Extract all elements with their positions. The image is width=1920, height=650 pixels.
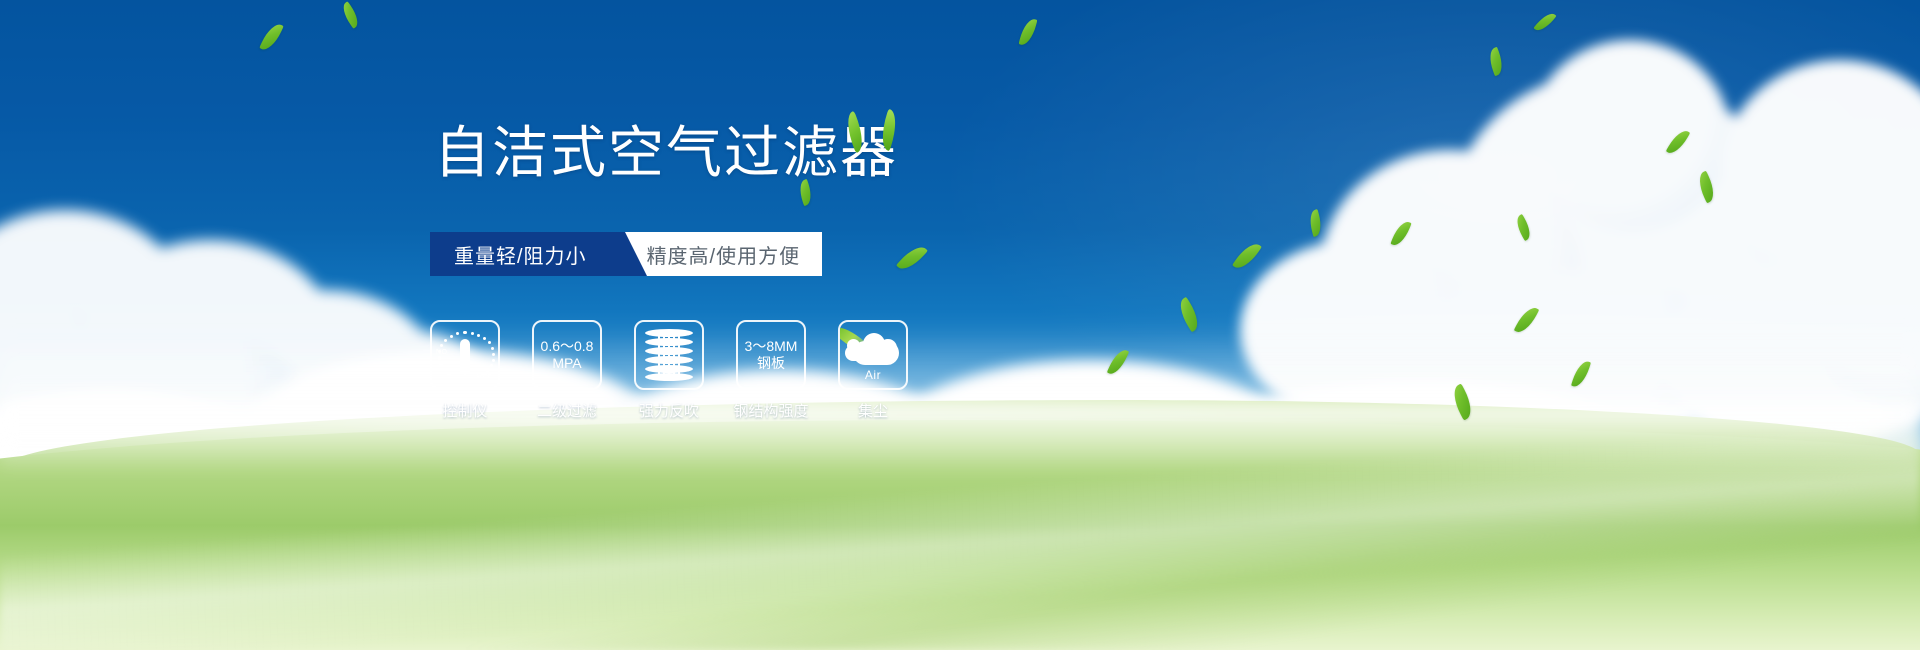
feature-icon-box: Air	[838, 320, 908, 390]
feature-label: 二级过滤	[537, 400, 597, 421]
pressure-value-line1: 0.6～0.8	[541, 338, 594, 356]
steel-value-line1: 3～8MM	[745, 338, 798, 356]
banner-content: 自洁式空气过滤器 重量轻/阻力小 精度高/使用方便	[0, 0, 1920, 650]
steel-value-line2: 钢板	[757, 355, 785, 373]
air-label: Air	[845, 368, 901, 382]
feature-label: 控制仪	[442, 400, 487, 421]
feature-label: 集尘	[858, 400, 888, 421]
tagline-bar: 重量轻/阻力小 精度高/使用方便	[430, 232, 822, 276]
feature-icon-box: NO OFF	[430, 320, 500, 390]
feature-icon-box: 3～8MM 钢板	[736, 320, 806, 390]
feature-item-two-stage-filter[interactable]: 0.6～0.8 MPA 二级过滤	[532, 320, 602, 421]
feature-icon-box	[634, 320, 704, 390]
air-cloud-icon: Air	[845, 331, 901, 379]
page-title: 自洁式空气过滤器	[434, 125, 898, 181]
feature-item-steel-strength[interactable]: 3～8MM 钢板 钢结构强度	[736, 320, 806, 421]
product-hero-banner: 自洁式空气过滤器 重量轻/阻力小 精度高/使用方便	[0, 0, 1920, 650]
pressure-value-line2: MPA	[552, 355, 581, 373]
feature-item-back-blow[interactable]: 强力反吹	[634, 320, 704, 421]
gauge-label-off: OFF	[477, 372, 493, 379]
feature-icon-list: NO OFF 控制仪 0.6～0.8 MPA 二级过滤	[430, 320, 908, 421]
sprout-leaves-icon	[842, 108, 912, 154]
gauge-label-no: NO	[436, 349, 448, 356]
gauge-dial-icon: NO OFF	[437, 327, 493, 383]
tagline-primary: 重量轻/阻力小	[430, 232, 625, 276]
feature-item-dust-collection[interactable]: Air 集尘	[838, 320, 908, 421]
feature-item-controller[interactable]: NO OFF 控制仪	[430, 320, 500, 421]
feature-label: 强力反吹	[639, 400, 699, 421]
filter-cartridge-icon	[645, 329, 693, 381]
feature-icon-box: 0.6～0.8 MPA	[532, 320, 602, 390]
feature-label: 钢结构强度	[734, 400, 809, 421]
